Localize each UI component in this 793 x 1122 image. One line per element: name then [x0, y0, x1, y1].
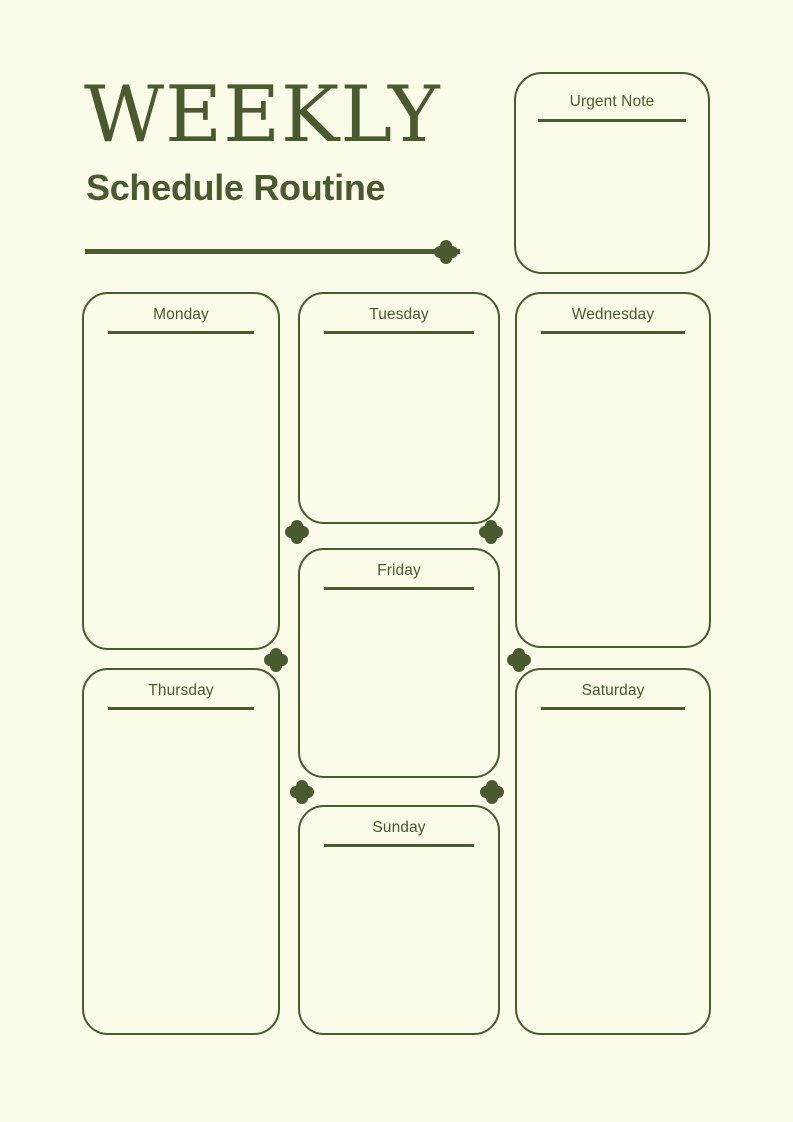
day-card-thursday[interactable]: Thursday	[82, 668, 280, 1035]
day-rule-wednesday	[541, 331, 685, 334]
urgent-note-card[interactable]: Urgent Note	[514, 72, 710, 274]
clover-icon	[505, 646, 533, 674]
header-divider	[85, 238, 475, 268]
day-rule-monday	[108, 331, 254, 334]
day-card-monday[interactable]: Monday	[82, 292, 280, 650]
day-rule-friday	[324, 587, 474, 590]
clover-icon	[283, 518, 311, 546]
day-rule-thursday	[108, 707, 254, 710]
day-label-saturday: Saturday	[517, 682, 709, 700]
day-card-sunday[interactable]: Sunday	[298, 805, 500, 1035]
day-label-thursday: Thursday	[84, 682, 278, 700]
page-title: WEEKLY	[84, 74, 484, 156]
clover-icon	[432, 238, 460, 266]
day-card-saturday[interactable]: Saturday	[515, 668, 711, 1035]
day-label-tuesday: Tuesday	[300, 306, 498, 324]
clover-icon	[477, 518, 505, 546]
day-card-tuesday[interactable]: Tuesday	[298, 292, 500, 524]
day-card-friday[interactable]: Friday	[298, 548, 500, 778]
urgent-note-rule	[538, 119, 686, 122]
day-label-sunday: Sunday	[300, 819, 498, 837]
page-header: WEEKLY Schedule Routine	[84, 74, 484, 209]
urgent-note-label: Urgent Note	[516, 93, 708, 111]
day-card-wednesday[interactable]: Wednesday	[515, 292, 711, 648]
page-subtitle: Schedule Routine	[86, 167, 484, 209]
day-rule-saturday	[541, 707, 685, 710]
weekly-schedule-page: WEEKLY Schedule Routine Urgent Note Mond…	[0, 0, 793, 1122]
day-label-wednesday: Wednesday	[517, 306, 709, 324]
day-rule-sunday	[324, 844, 474, 847]
clover-icon	[288, 778, 316, 806]
clover-icon	[262, 646, 290, 674]
clover-icon	[478, 778, 506, 806]
day-rule-tuesday	[324, 331, 474, 334]
header-divider-line	[85, 249, 460, 254]
day-label-friday: Friday	[300, 562, 498, 580]
day-label-monday: Monday	[84, 306, 278, 324]
